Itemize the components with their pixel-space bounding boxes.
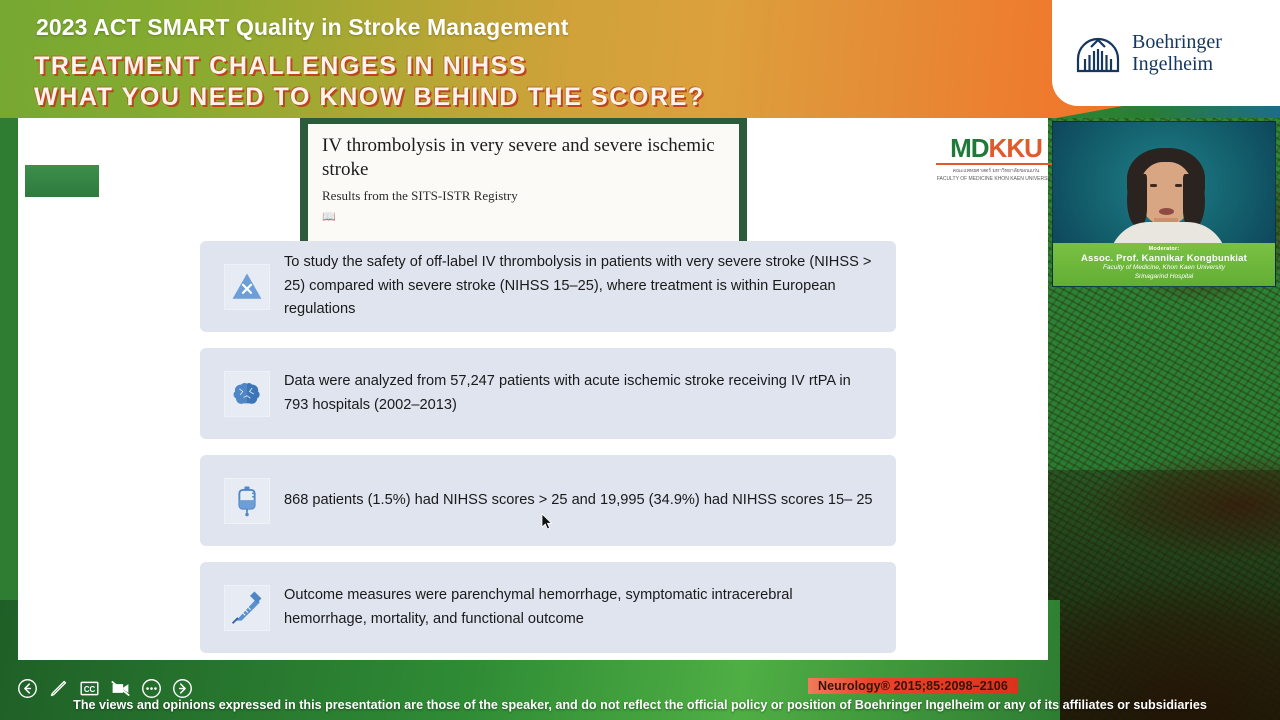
closed-caption-icon[interactable]: CC [78,677,101,700]
background-blobs [1040,470,1280,720]
avatar-eye-left [1150,184,1157,187]
avatar-hair-left [1127,174,1147,226]
avatar-eye-right [1175,184,1182,187]
speaker-name-banner: Moderator: Assoc. Prof. Kannikar Kongbun… [1053,243,1275,286]
book-icon: 📖 [322,210,725,223]
org-logo-wordmark: MDKKU [930,135,1062,161]
brain-icon [224,371,270,417]
player-toolbar: CC [16,677,194,700]
presentation-screen: 2023 ACT SMART Quality in Stroke Managem… [0,0,1280,720]
org-logo-kku: KKU [989,133,1042,163]
header-banner: 2023 ACT SMART Quality in Stroke Managem… [0,0,1280,118]
speaker-role: Moderator: [1057,246,1271,252]
avatar-hair-right [1183,174,1205,228]
legal-disclaimer: The views and opinions expressed in this… [0,698,1280,712]
pen-icon[interactable] [47,677,70,700]
list-item-text: Data were analyzed from 57,247 patients … [284,370,896,417]
session-subtitle-line2: WHAT YOU NEED TO KNOW BEHIND THE SCORE? [34,83,705,112]
list-item: Outcome measures were parenchymal hemorr… [200,562,896,653]
org-logo-rule [936,163,1056,165]
back-arrow-icon[interactable] [16,677,39,700]
camera-off-icon[interactable] [109,677,132,700]
speaker-affiliation-line1: Faculty of Medicine, Khon Kaen Universit… [1057,264,1271,273]
list-item-text: To study the safety of off-label IV thro… [284,251,896,321]
speaker-affiliation-line2: Srinagarind Hospital [1057,273,1271,282]
speaker-name: Assoc. Prof. Kannikar Kongbunkiat [1057,253,1271,264]
sponsor-name-line1: Boehringer [1132,31,1222,53]
mouse-cursor [541,513,553,531]
list-item-text: 868 patients (1.5%) had NIHSS scores > 2… [284,489,895,512]
paper-title: IV thrombolysis in very severe and sever… [322,134,725,181]
speaker-video-tile[interactable]: Moderator: Assoc. Prof. Kannikar Kongbun… [1052,121,1276,287]
forward-arrow-icon[interactable] [171,677,194,700]
syringe-icon [224,585,270,631]
sponsor-name: Boehringer Ingelheim [1132,31,1222,76]
paper-subtitle: Results from the SITS-ISTR Registry [322,188,725,204]
list-item: To study the safety of off-label IV thro… [200,241,896,332]
warning-triangle-x-icon [224,264,270,310]
org-logo-thai-line1: คณะแพทยศาสตร์ มหาวิทยาลัยขอนแก่น [930,168,1062,176]
list-item: Data were analyzed from 57,247 patients … [200,348,896,439]
iv-drip-bag-icon [224,478,270,524]
org-logo-md: MD [950,133,988,163]
avatar-mouth [1159,208,1174,215]
svg-text:CC: CC [84,685,96,694]
paper-title-card: IV thrombolysis in very severe and sever… [300,118,747,243]
slide-bullet-list: To study the safety of off-label IV thro… [200,241,896,669]
list-item-text: Outcome measures were parenchymal hemorr… [284,584,896,631]
ellipsis-icon[interactable] [140,677,163,700]
boehringer-ingelheim-mark-icon [1074,29,1122,77]
org-logo: MDKKU คณะแพทยศาสตร์ มหาวิทยาลัยขอนแก่น F… [930,135,1062,183]
org-logo-thai-line2: FACULTY OF MEDICINE KHON KAEN UNIVERSITY [930,176,1062,184]
sponsor-name-line2: Ingelheim [1132,53,1213,75]
list-item: 868 patients (1.5%) had NIHSS scores > 2… [200,455,896,546]
session-subtitle-line1: TREATMENT CHALLENGES IN NIHSS [34,52,527,81]
sponsor-logo: Boehringer Ingelheim [1052,0,1280,106]
slide-canvas: IV thrombolysis in very severe and sever… [18,118,1048,660]
slide-accent-block [25,165,99,197]
event-title: 2023 ACT SMART Quality in Stroke Managem… [36,14,569,41]
citation-badge: Neurology® 2015;85:2098–2106 [808,678,1018,694]
